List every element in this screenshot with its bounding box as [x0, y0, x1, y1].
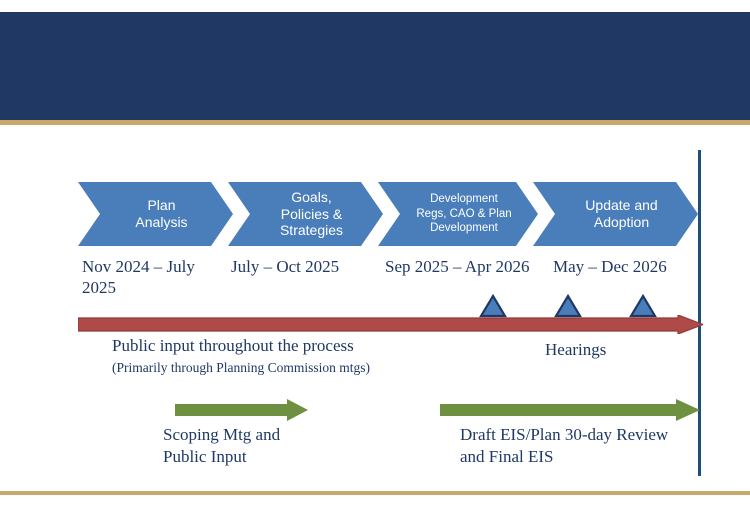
phase-dates-3: Sep 2025 – Apr 2026	[385, 256, 560, 277]
phase-dates-4: May – Dec 2026	[553, 256, 713, 277]
phase-chevron-4[interactable]: Update and Adoption	[533, 182, 698, 246]
public-input-subcaption: (Primarily through Planning Commission m…	[112, 360, 370, 376]
phase-chevron-2[interactable]: Goals, Policies & Strategies	[228, 182, 383, 246]
phase-chevron-1-label: Plan Analysis	[119, 197, 191, 230]
title-accent-rule	[0, 120, 750, 125]
hearings-label: Hearings	[545, 340, 606, 360]
title-banner	[0, 12, 750, 120]
public-input-arrow	[78, 315, 703, 334]
phase-chevron-3-label: Development Regs, CAO & Plan Development	[400, 192, 515, 235]
scoping-caption: Scoping Mtg and Public Input	[163, 424, 343, 468]
scoping-arrow	[175, 399, 308, 421]
phase-dates-1: Nov 2024 – July 2025	[82, 256, 227, 299]
phase-chevron-3[interactable]: Development Regs, CAO & Plan Development	[378, 182, 538, 246]
phase-chevron-4-label: Update and Adoption	[569, 197, 661, 230]
public-input-caption: Public input throughout the process	[112, 336, 354, 356]
phase-chevron-2-label: Goals, Policies & Strategies	[264, 189, 347, 239]
timeline-slide: Timeline Plan Analysis Goals, Policies &…	[0, 0, 750, 507]
phase-dates-2: July – Oct 2025	[231, 256, 381, 277]
phase-chevron-row: Plan Analysis Goals, Policies & Strategi…	[0, 182, 750, 246]
eis-caption: Draft EIS/Plan 30-day Review and Final E…	[460, 424, 720, 468]
bottom-accent-rule	[0, 491, 750, 495]
eis-arrow	[440, 399, 700, 421]
phase-chevron-1[interactable]: Plan Analysis	[78, 182, 233, 246]
